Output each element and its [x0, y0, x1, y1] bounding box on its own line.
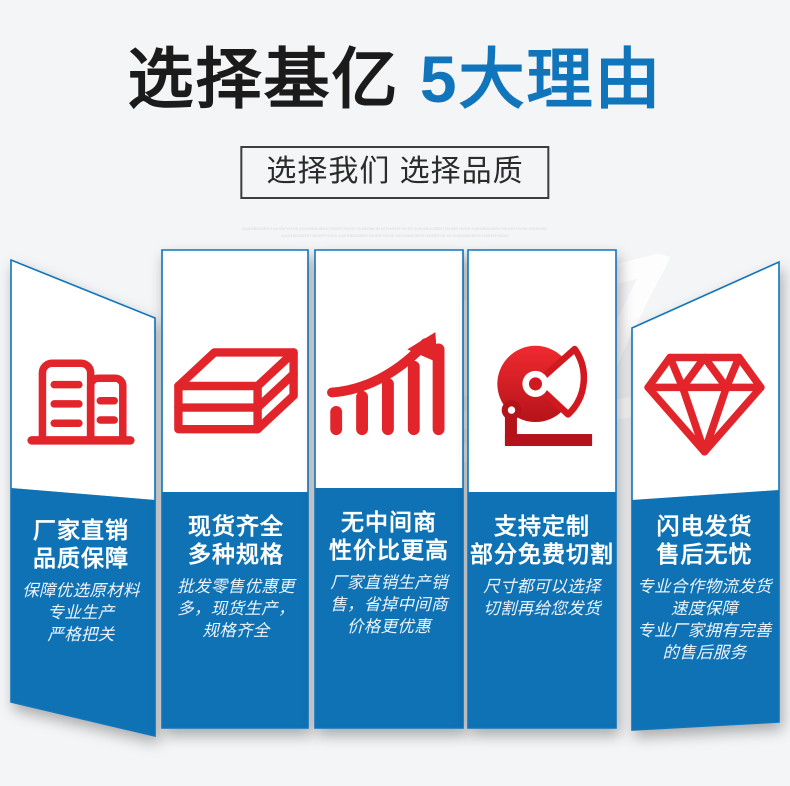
panel-1-body: 保障优选原材料 专业生产 严格把关	[0, 581, 162, 647]
panel-3-content: 无中间商 性价比更高 厂家直销生产销 售，省掉中间商 价格更优惠	[313, 250, 465, 786]
panel-2-body: 批发零售优惠更 多，现货生产， 规格齐全	[160, 577, 312, 643]
panel-1-content: 厂家直销 品质保障 保障优选原材料 专业生产 严格把关	[0, 250, 162, 786]
panel-2-title: 现货齐全 多种规格	[160, 512, 312, 568]
circular-saw-cutting-icon	[466, 336, 618, 458]
page-title-blue: 5大理由	[420, 42, 663, 116]
microtext-line-1: SUAHZBNCNEEKTVAHZEFYACHD SUAHZBNCNEEKTVA…	[242, 227, 548, 231]
microtext-line-2: SUAHZBNCNEEKTVAHZEFYACHD SUAHZBNCNEEKTVA…	[0, 233, 790, 240]
feature-panels: 厂家直销 品质保障 保障优选原材料 专业生产 严格把关	[0, 250, 790, 786]
feature-panel-2[interactable]: 现货齐全 多种规格 批发零售优惠更 多，现货生产， 规格齐全	[160, 250, 312, 786]
factory-building-icon	[0, 345, 162, 465]
panel-5-title: 闪电发货 售后无忧	[619, 512, 790, 568]
promo-banner: 基亿 选择基亿 5大理由 选择我们 选择品质 SUAHZBNCNEEKTVAHZ…	[0, 0, 790, 786]
page-title: 选择基亿 5大理由	[0, 46, 790, 112]
panel-1-title: 厂家直销 品质保障	[0, 516, 162, 572]
diamond-gem-icon	[619, 346, 790, 461]
decorative-microtext: SUAHZBNCNEEKTVAHZEFYACHD SUAHZBNCNEEKTVA…	[0, 226, 790, 240]
growth-chart-arrow-icon	[313, 330, 465, 455]
panel-4-body: 尺寸都可以选择 切割再给您发货	[466, 577, 618, 621]
panel-4-content: 支持定制 部分免费切割 尺寸都可以选择 切割再给您发货	[466, 250, 618, 786]
header: 选择基亿 5大理由 选择我们 选择品质 SUAHZBNCNEEKTVAHZEFY…	[0, 0, 790, 250]
panel-4-title: 支持定制 部分免费切割	[466, 512, 618, 568]
panel-5-body: 专业合作物流发货 速度保障 专业厂家拥有完善 的售后服务	[619, 577, 790, 665]
feature-panel-4[interactable]: 支持定制 部分免费切割 尺寸都可以选择 切割再给您发货	[466, 250, 618, 786]
steel-plate-stack-icon	[160, 338, 312, 458]
page-title-dark: 选择基亿	[127, 42, 399, 116]
panel-5-content: 闪电发货 售后无忧 专业合作物流发货 速度保障 专业厂家拥有完善 的售后服务	[619, 250, 790, 786]
panel-3-body: 厂家直销生产销 售，省掉中间商 价格更优惠	[313, 573, 465, 639]
subtitle-text: 选择我们 选择品质	[266, 155, 523, 188]
panel-2-content: 现货齐全 多种规格 批发零售优惠更 多，现货生产， 规格齐全	[160, 250, 312, 786]
feature-panel-1[interactable]: 厂家直销 品质保障 保障优选原材料 专业生产 严格把关	[0, 250, 162, 786]
feature-panel-3[interactable]: 无中间商 性价比更高 厂家直销生产销 售，省掉中间商 价格更优惠	[313, 250, 465, 786]
subtitle-box: 选择我们 选择品质	[240, 146, 549, 199]
panel-3-title: 无中间商 性价比更高	[313, 508, 465, 564]
feature-panel-5[interactable]: 闪电发货 售后无忧 专业合作物流发货 速度保障 专业厂家拥有完善 的售后服务	[619, 250, 790, 786]
